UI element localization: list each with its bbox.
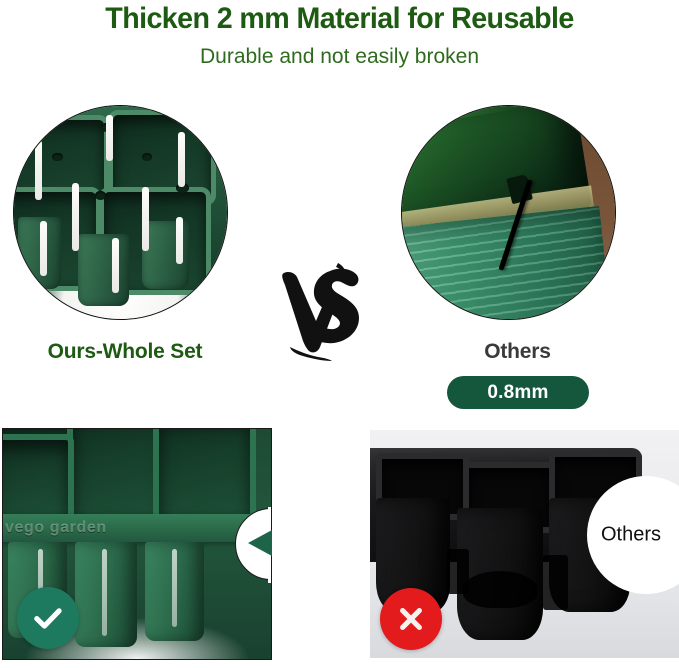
top-comparison-row: [0, 100, 679, 325]
page-subtitle: Durable and not easily broken: [0, 36, 679, 69]
header: Thicken 2 mm Material for Reusable Durab…: [0, 0, 679, 69]
pointer-arrow-icon: [248, 530, 272, 556]
check-icon: [17, 587, 79, 649]
ours-product-panel: vego garden: [2, 428, 272, 660]
vs-divider: [272, 255, 368, 365]
brand-emboss: vego garden: [5, 518, 155, 539]
ours-label: Ours-Whole Set: [0, 340, 250, 364]
bottom-comparison-row: vego garden: [0, 418, 679, 668]
page-title: Thicken 2 mm Material for Reusable: [10, 0, 669, 36]
others-callout-label: Others: [583, 523, 679, 546]
cracked-pot-image: [402, 106, 615, 319]
ours-closeup-photo: [13, 105, 228, 320]
green-tray-image: [14, 106, 227, 319]
thickness-badge: 0.8mm: [447, 376, 589, 409]
cross-icon: [380, 588, 442, 650]
others-label: Others: [410, 340, 625, 364]
others-product-panel: Others: [370, 430, 679, 658]
others-closeup-photo: [401, 105, 616, 320]
